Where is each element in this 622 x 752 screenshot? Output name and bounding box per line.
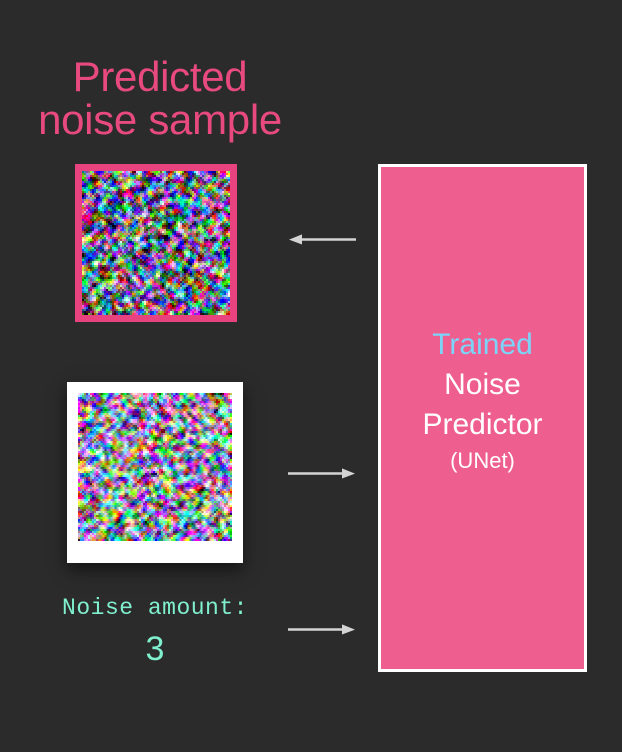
- noise-amount-value: 3: [0, 630, 310, 668]
- unet-box-text: Trained Noise Predictor (UNet): [381, 325, 584, 477]
- input-noisy-sample-image: [67, 382, 243, 563]
- page-title-line-1: Predicted: [0, 55, 320, 98]
- predicted-noise-sample-image: [75, 164, 237, 322]
- noise-amount-label: Noise amount:: [0, 595, 310, 621]
- unet-name-label-line-2: Predictor: [381, 405, 584, 445]
- arrow-right-icon-to-unet-image: [288, 462, 358, 491]
- trained-noise-predictor-box[interactable]: Trained Noise Predictor (UNet): [378, 164, 587, 672]
- diagram-canvas: Predicted noise sample Noise amount: 3 T…: [0, 0, 622, 752]
- noise-texture-predicted: [82, 171, 230, 315]
- unet-architecture-label: (UNet): [381, 445, 584, 477]
- noise-texture-input: [78, 393, 232, 541]
- unet-trained-label: Trained: [381, 325, 584, 365]
- page-title-line-2: noise sample: [0, 98, 320, 141]
- arrow-right-icon-to-unet-amount: [288, 618, 358, 647]
- arrow-left-icon-to-predicted-noise: [286, 228, 356, 257]
- unet-name-label-line-1: Noise: [381, 365, 584, 405]
- page-title: Predicted noise sample: [0, 55, 320, 141]
